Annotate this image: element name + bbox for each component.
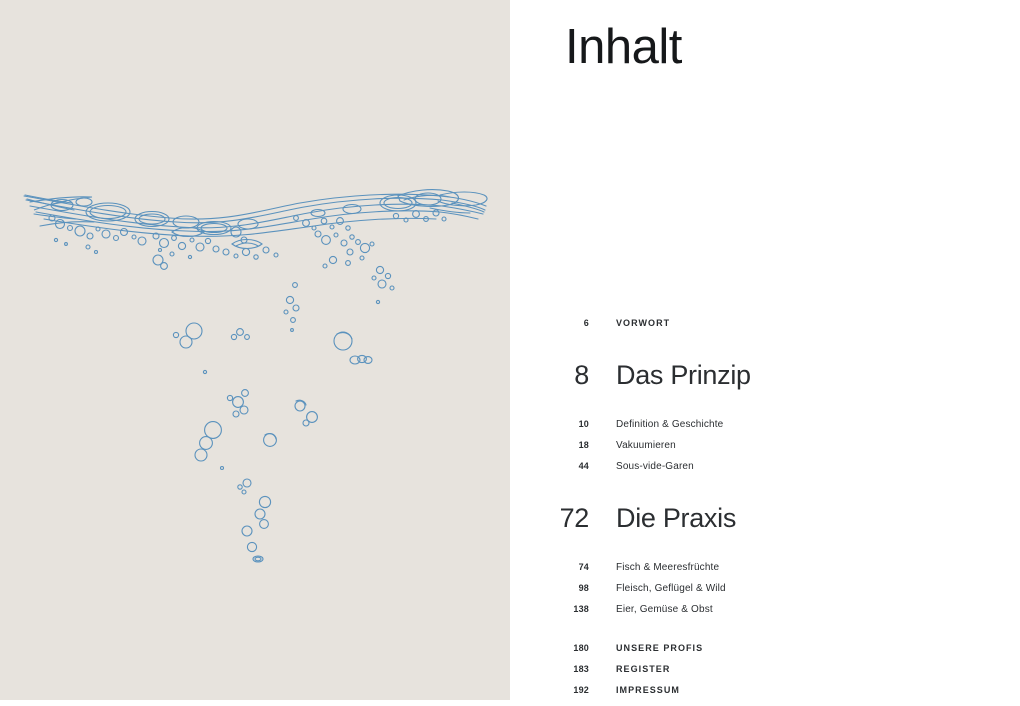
toc-entry-vakuumieren[interactable]: 18 Vakuumieren [510,440,1020,461]
toc-entry-label: Die Praxis [589,503,1020,534]
book-spread: Inhalt 6 VORWORT 8 Das Prinzip 10 Defini… [0,0,1020,700]
toc-entry-label: UNSERE PROFIS [589,643,1020,653]
toc-entry-label: Fisch & Meeresfrüchte [589,562,1020,573]
toc-entry-register[interactable]: 183 REGISTER [510,664,1020,685]
spacer [510,339,1020,360]
toc-entry-fisch-meeresfruechte[interactable]: 74 Fisch & Meeresfrüchte [510,562,1020,583]
toc-entry-eier-gemuese-obst[interactable]: 138 Eier, Gemüse & Obst [510,604,1020,625]
toc-entry-unsere-profis[interactable]: 180 UNSERE PROFIS [510,643,1020,664]
spacer [510,625,1020,643]
toc-entry-sous-vide-garen[interactable]: 44 Sous-vide-Garen [510,461,1020,482]
toc-page-number: 98 [510,583,589,593]
toc-entry-label: Eier, Gemüse & Obst [589,604,1020,615]
toc-entry-label: Definition & Geschichte [589,419,1020,430]
spacer [510,410,1020,419]
toc-page-number: 44 [510,461,589,471]
toc-entry-fleisch-gefluegel-wild[interactable]: 98 Fleisch, Geflügel & Wild [510,583,1020,604]
toc-entry-das-prinzip[interactable]: 8 Das Prinzip [510,360,1020,410]
toc-entry-label: IMPRESSUM [589,685,1020,695]
toc-page-number: 18 [510,440,589,450]
toc-entry-label: Sous-vide-Garen [589,461,1020,472]
toc-page-number: 8 [510,360,589,391]
toc-entry-label: VORWORT [589,318,1020,328]
toc-entry-label: REGISTER [589,664,1020,674]
toc-entry-die-praxis[interactable]: 72 Die Praxis [510,503,1020,553]
toc-entry-impressum[interactable]: 192 IMPRESSUM [510,685,1020,706]
toc-page-number: 180 [510,643,589,653]
toc-page-number: 74 [510,562,589,572]
toc-page-number: 72 [510,503,589,534]
right-page: Inhalt 6 VORWORT 8 Das Prinzip 10 Defini… [510,0,1020,700]
toc-entry-label: Das Prinzip [589,360,1020,391]
page-title: Inhalt [565,23,682,72]
toc-entry-label: Fleisch, Geflügel & Wild [589,583,1020,594]
toc-page-number: 6 [510,318,589,328]
toc-page-number: 10 [510,419,589,429]
table-of-contents: 6 VORWORT 8 Das Prinzip 10 Definition & … [510,318,1020,706]
toc-entry-vorwort[interactable]: 6 VORWORT [510,318,1020,339]
spacer [510,553,1020,562]
toc-entry-label: Vakuumieren [589,440,1020,451]
water-surface-with-rising-bubbles-illustration [0,0,510,700]
toc-page-number: 183 [510,664,589,674]
left-page [0,0,510,700]
spacer [510,482,1020,503]
toc-page-number: 138 [510,604,589,614]
toc-page-number: 192 [510,685,589,695]
toc-entry-definition-geschichte[interactable]: 10 Definition & Geschichte [510,419,1020,440]
